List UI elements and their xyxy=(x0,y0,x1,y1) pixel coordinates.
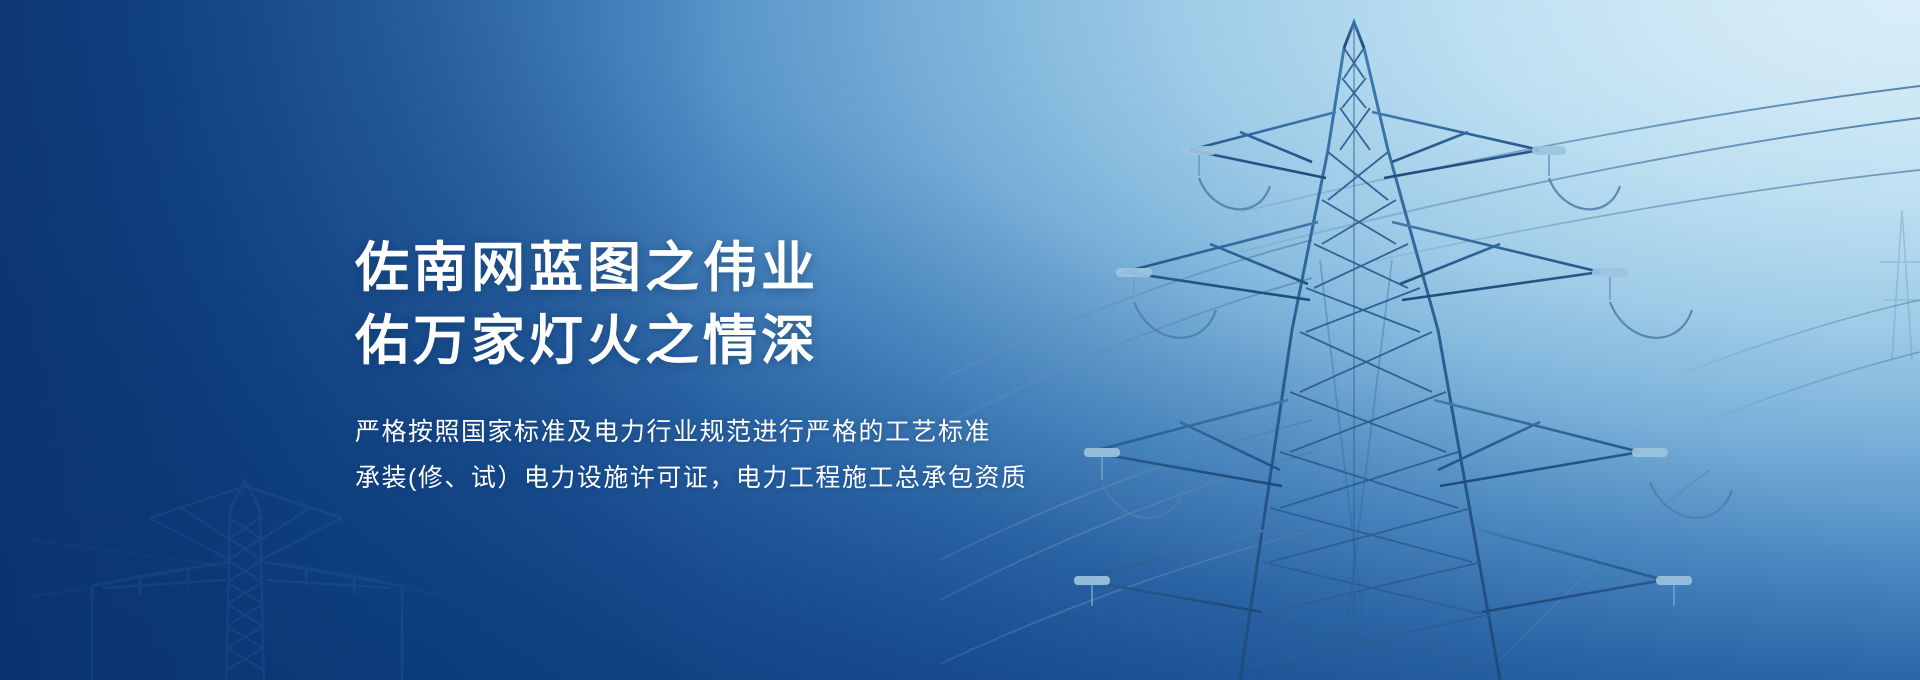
subtitle-line-2: 承装(修、试）电力设施许可证，电力工程施工总承包资质 xyxy=(355,455,1255,502)
headline-line-2: 佑万家灯火之情深 xyxy=(355,305,1255,378)
banner-copy: 佐南网蓝图之伟业 佑万家灯火之情深 严格按照国家标准及电力行业规范进行严格的工艺… xyxy=(355,232,1255,502)
subtitle-line-1: 严格按照国家标准及电力行业规范进行严格的工艺标准 xyxy=(355,409,1255,456)
headline-line-1: 佐南网蓝图之伟业 xyxy=(355,232,1255,305)
hero-banner: 佐南网蓝图之伟业 佑万家灯火之情深 严格按照国家标准及电力行业规范进行严格的工艺… xyxy=(0,0,1920,680)
subtitle-group: 严格按照国家标准及电力行业规范进行严格的工艺标准 承装(修、试）电力设施许可证，… xyxy=(355,409,1255,502)
